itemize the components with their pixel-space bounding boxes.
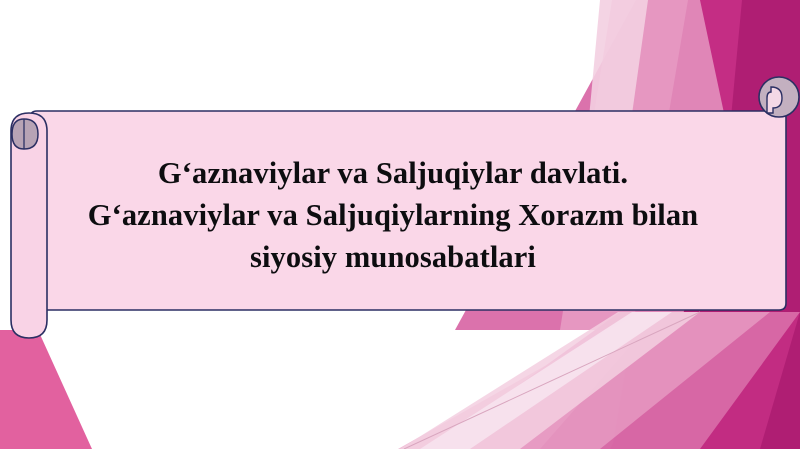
banner-left-curl: [12, 119, 38, 149]
banner-sheet: [30, 111, 786, 310]
scroll-banner: [0, 0, 800, 449]
slide-canvas: G‘aznaviylar va Saljuqiylar davlati. G‘a…: [0, 0, 800, 449]
